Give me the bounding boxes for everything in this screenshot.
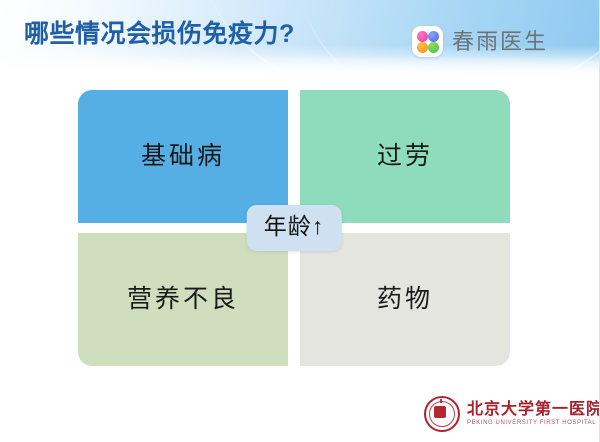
header-fade-overlay — [0, 56, 600, 78]
four-petal-flower-icon — [412, 26, 443, 57]
petal-green-icon — [428, 42, 439, 53]
center-badge-label: 年龄↑ — [264, 213, 325, 239]
slide-canvas: 哪些情况会损伤免疫力? 春雨医生 基础病 过劳 营养不良 药物 年龄↑ — [0, 0, 600, 442]
hospital-name-cn: 北京大学第一医院 — [467, 402, 600, 418]
hospital-name-en: PEKING UNIVERSITY FIRST HOSPITAL — [467, 420, 600, 426]
brand-name-label: 春雨医生 — [452, 31, 548, 53]
quadrant-label: 基础病 — [141, 144, 225, 169]
footer-text-block: 北京大学第一医院 PEKING UNIVERSITY FIRST HOSPITA… — [467, 402, 600, 426]
quadrant-label: 药物 — [377, 287, 433, 312]
center-badge: 年龄↑ — [247, 205, 342, 251]
hospital-seal-icon — [424, 396, 460, 432]
seal-core-icon — [434, 406, 446, 418]
petal-pink-icon — [417, 31, 428, 42]
quadrant-matrix: 基础病 过劳 营养不良 药物 年龄↑ — [78, 90, 510, 366]
brand-lockup: 春雨医生 — [412, 26, 548, 57]
page-title: 哪些情况会损伤免疫力? — [24, 22, 295, 47]
quadrant-bottom-left: 营养不良 — [78, 233, 288, 366]
quadrant-bottom-right: 药物 — [300, 233, 510, 366]
petal-orange-icon — [417, 42, 428, 53]
seal-tick-icon — [440, 399, 442, 403]
petal-blue-icon — [428, 31, 439, 42]
quadrant-label: 营养不良 — [127, 287, 239, 312]
footer-hospital-lockup: 北京大学第一医院 PEKING UNIVERSITY FIRST HOSPITA… — [424, 396, 600, 432]
quadrant-label: 过劳 — [377, 144, 433, 169]
quadrant-top-left: 基础病 — [78, 90, 288, 223]
quadrant-top-right: 过劳 — [300, 90, 510, 223]
